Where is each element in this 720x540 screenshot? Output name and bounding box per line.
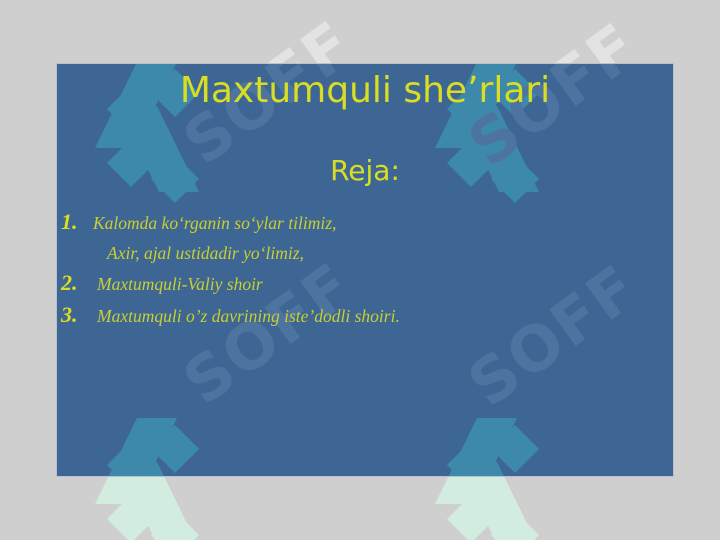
agenda-item-text: Maxtumquli o’z davrining iste’dodli shoi… bbox=[93, 303, 400, 329]
agenda-item-text: Kalomda ko‘rganin so‘ylar tilimiz, bbox=[93, 210, 336, 236]
agenda-item: 2. Maxtumquli-Valiy shoir bbox=[57, 270, 673, 301]
agenda-list: 1. Kalomda ko‘rganin so‘ylar tilimiz, Ax… bbox=[57, 187, 673, 333]
slide-title: Maxtumquli she’rlari bbox=[57, 64, 673, 110]
agenda-item-number: 3. bbox=[61, 302, 93, 328]
agenda-item: 1. Kalomda ko‘rganin so‘ylar tilimiz, bbox=[57, 209, 673, 240]
slide-body: Maxtumquli she’rlari Reja: 1. Kalomda ko… bbox=[57, 64, 673, 476]
agenda-item-number: 2. bbox=[61, 270, 93, 296]
agenda-item: 3. Maxtumquli o’z davrining iste’dodli s… bbox=[57, 302, 673, 333]
agenda-item-number: 1. bbox=[61, 209, 93, 235]
agenda-item-continuation: Axir, ajal ustidadir yo‘limiz, bbox=[57, 240, 673, 270]
presentation-slide: SOFF SOFF SOFF SOFF Maxtumquli she’rlari… bbox=[57, 64, 673, 476]
agenda-item-text: Maxtumquli-Valiy shoir bbox=[93, 271, 263, 297]
slide-canvas: SOFF SOFF bbox=[0, 0, 720, 540]
agenda-item-text: Axir, ajal ustidadir yo‘limiz, bbox=[93, 240, 304, 266]
slide-subtitle: Reja: bbox=[57, 110, 673, 187]
